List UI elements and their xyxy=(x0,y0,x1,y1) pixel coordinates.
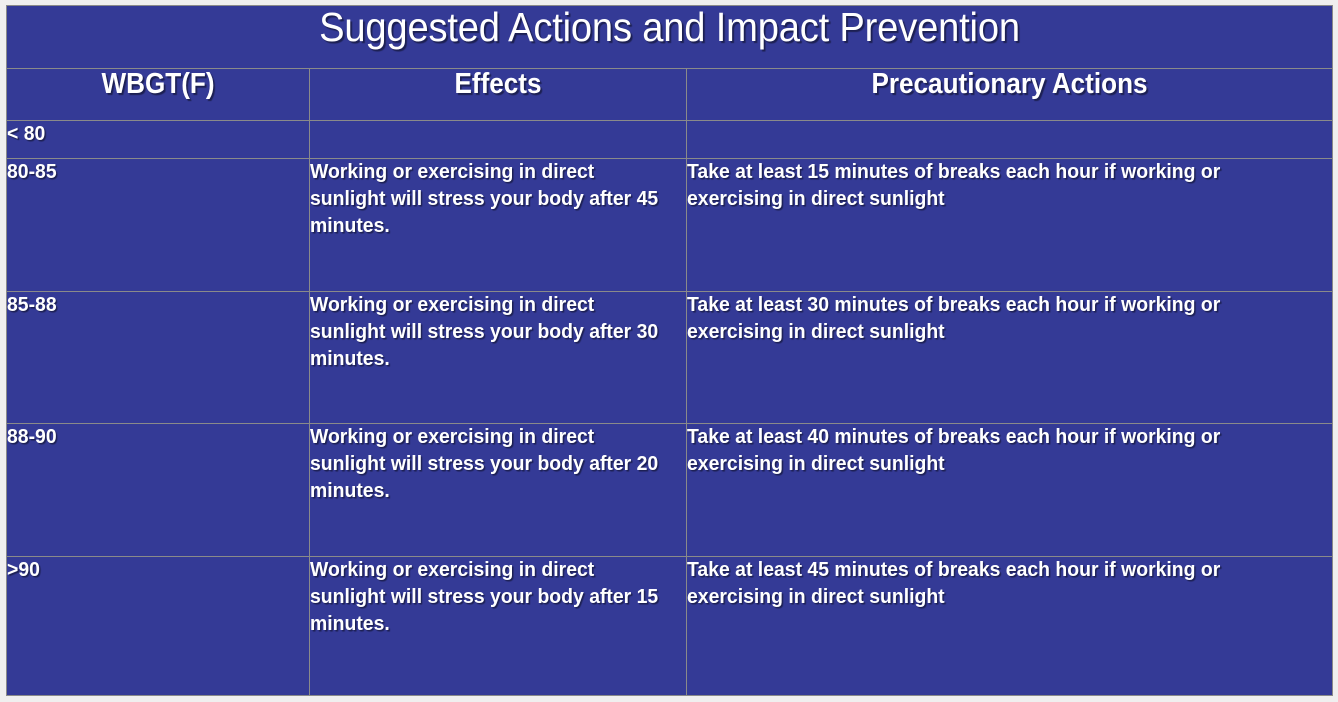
cell-wbgt-range-value: < 80 xyxy=(7,121,300,148)
cell-effects-value: Working or exercising in direct sunlight… xyxy=(310,292,675,373)
column-header-wbgt-label: WBGT(F) xyxy=(22,69,294,99)
cell-precautionary-actions-value xyxy=(687,121,1313,122)
cell-effects-value: Working or exercising in direct sunlight… xyxy=(310,557,675,638)
cell-precautionary-actions-value: Take at least 15 minutes of breaks each … xyxy=(687,159,1313,213)
cell-effects: Working or exercising in direct sunlight… xyxy=(310,158,687,291)
cell-wbgt-range-value: 85-88 xyxy=(7,292,300,319)
cell-effects: Working or exercising in direct sunlight… xyxy=(310,291,687,424)
table-row: 80-85 Working or exercising in direct su… xyxy=(7,158,1333,291)
cell-wbgt-range: 85-88 xyxy=(7,291,310,424)
cell-wbgt-range-value: 88-90 xyxy=(7,424,300,451)
column-header-effects-label: Effects xyxy=(329,69,667,99)
page-root: Suggested Actions and Impact Prevention … xyxy=(0,0,1338,702)
cell-precautionary-actions-value: Take at least 40 minutes of breaks each … xyxy=(687,424,1313,478)
cell-precautionary-actions: Take at least 40 minutes of breaks each … xyxy=(687,424,1333,557)
cell-wbgt-range-value: >90 xyxy=(7,557,300,584)
cell-precautionary-actions-value: Take at least 45 minutes of breaks each … xyxy=(687,557,1313,611)
table-row: 88-90 Working or exercising in direct su… xyxy=(7,424,1333,557)
header-row: WBGT(F) Effects Precautionary Actions xyxy=(7,68,1333,121)
cell-wbgt-range: >90 xyxy=(7,557,310,696)
table-title-cell: Suggested Actions and Impact Prevention xyxy=(7,6,1333,69)
title-row: Suggested Actions and Impact Prevention xyxy=(7,6,1333,69)
page-title: Suggested Actions and Impact Prevention xyxy=(53,6,1285,49)
cell-precautionary-actions-value: Take at least 30 minutes of breaks each … xyxy=(687,292,1313,346)
cell-precautionary-actions: Take at least 15 minutes of breaks each … xyxy=(687,158,1333,291)
cell-effects xyxy=(310,121,687,158)
cell-effects-value: Working or exercising in direct sunlight… xyxy=(310,424,675,505)
wbgt-guidance-table: Suggested Actions and Impact Prevention … xyxy=(6,5,1333,696)
cell-wbgt-range: 80-85 xyxy=(7,158,310,291)
cell-effects: Working or exercising in direct sunlight… xyxy=(310,557,687,696)
column-header-wbgt: WBGT(F) xyxy=(7,68,310,121)
table-row: < 80 xyxy=(7,121,1333,158)
cell-wbgt-range: < 80 xyxy=(7,121,310,158)
cell-wbgt-range-value: 80-85 xyxy=(7,159,300,186)
column-header-effects: Effects xyxy=(310,68,687,121)
cell-precautionary-actions xyxy=(687,121,1333,158)
table-row: >90 Working or exercising in direct sunl… xyxy=(7,557,1333,696)
cell-wbgt-range: 88-90 xyxy=(7,424,310,557)
cell-effects-value xyxy=(310,121,675,122)
cell-effects-value: Working or exercising in direct sunlight… xyxy=(310,159,675,240)
cell-effects: Working or exercising in direct sunlight… xyxy=(310,424,687,557)
column-header-precautionary-actions-label: Precautionary Actions xyxy=(719,69,1300,99)
table-row: 85-88 Working or exercising in direct su… xyxy=(7,291,1333,424)
column-header-precautionary-actions: Precautionary Actions xyxy=(687,68,1333,121)
cell-precautionary-actions: Take at least 30 minutes of breaks each … xyxy=(687,291,1333,424)
cell-precautionary-actions: Take at least 45 minutes of breaks each … xyxy=(687,557,1333,696)
